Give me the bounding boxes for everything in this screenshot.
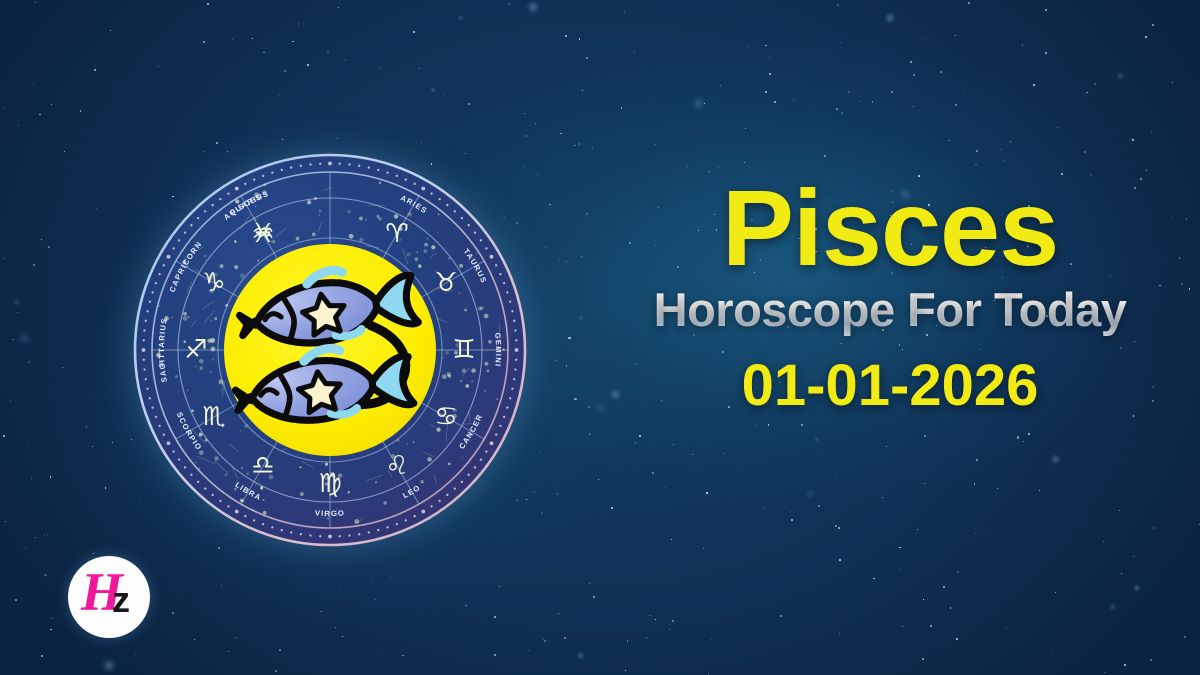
sign-title: Pisces — [600, 175, 1180, 281]
headline-subtitle: Horoscope For Today — [600, 285, 1180, 336]
zodiac-glyph-leo: ♌ — [385, 451, 408, 481]
zodiac-label-virgo: VIRGO — [315, 508, 346, 518]
zodiac-label-gemini: GEMINI — [493, 332, 503, 367]
zodiac-glyph-virgo: ♍ — [318, 469, 341, 499]
logo-letter-z: z — [112, 582, 130, 618]
zodiac-glyph-capricorn: ♑ — [202, 268, 225, 298]
zodiac-glyph-cancer: ♋ — [434, 402, 457, 432]
hz-logo[interactable]: H z — [68, 556, 150, 638]
horoscope-graphic: PISCES♓ARIES♈TAURUS♉GEMINI♊CANCER♋LEO♌VI… — [0, 0, 1200, 675]
zodiac-wheel: PISCES♓ARIES♈TAURUS♉GEMINI♊CANCER♋LEO♌VI… — [130, 150, 530, 550]
zodiac-glyph-scorpio: ♏ — [202, 402, 225, 432]
zodiac-glyph-gemini: ♊ — [452, 335, 475, 365]
zodiac-glyph-taurus: ♉ — [434, 268, 457, 298]
zodiac-glyph-libra: ♎ — [251, 451, 274, 481]
zodiac-glyph-aquarius: ♒ — [251, 219, 274, 249]
horoscope-date: 01-01-2026 — [600, 352, 1180, 419]
zodiac-glyph-sagittarius: ♐ — [184, 335, 207, 365]
zodiac-glyph-aries: ♈ — [385, 219, 408, 249]
headline-block: Pisces Horoscope For Today 01-01-2026 — [600, 175, 1180, 419]
